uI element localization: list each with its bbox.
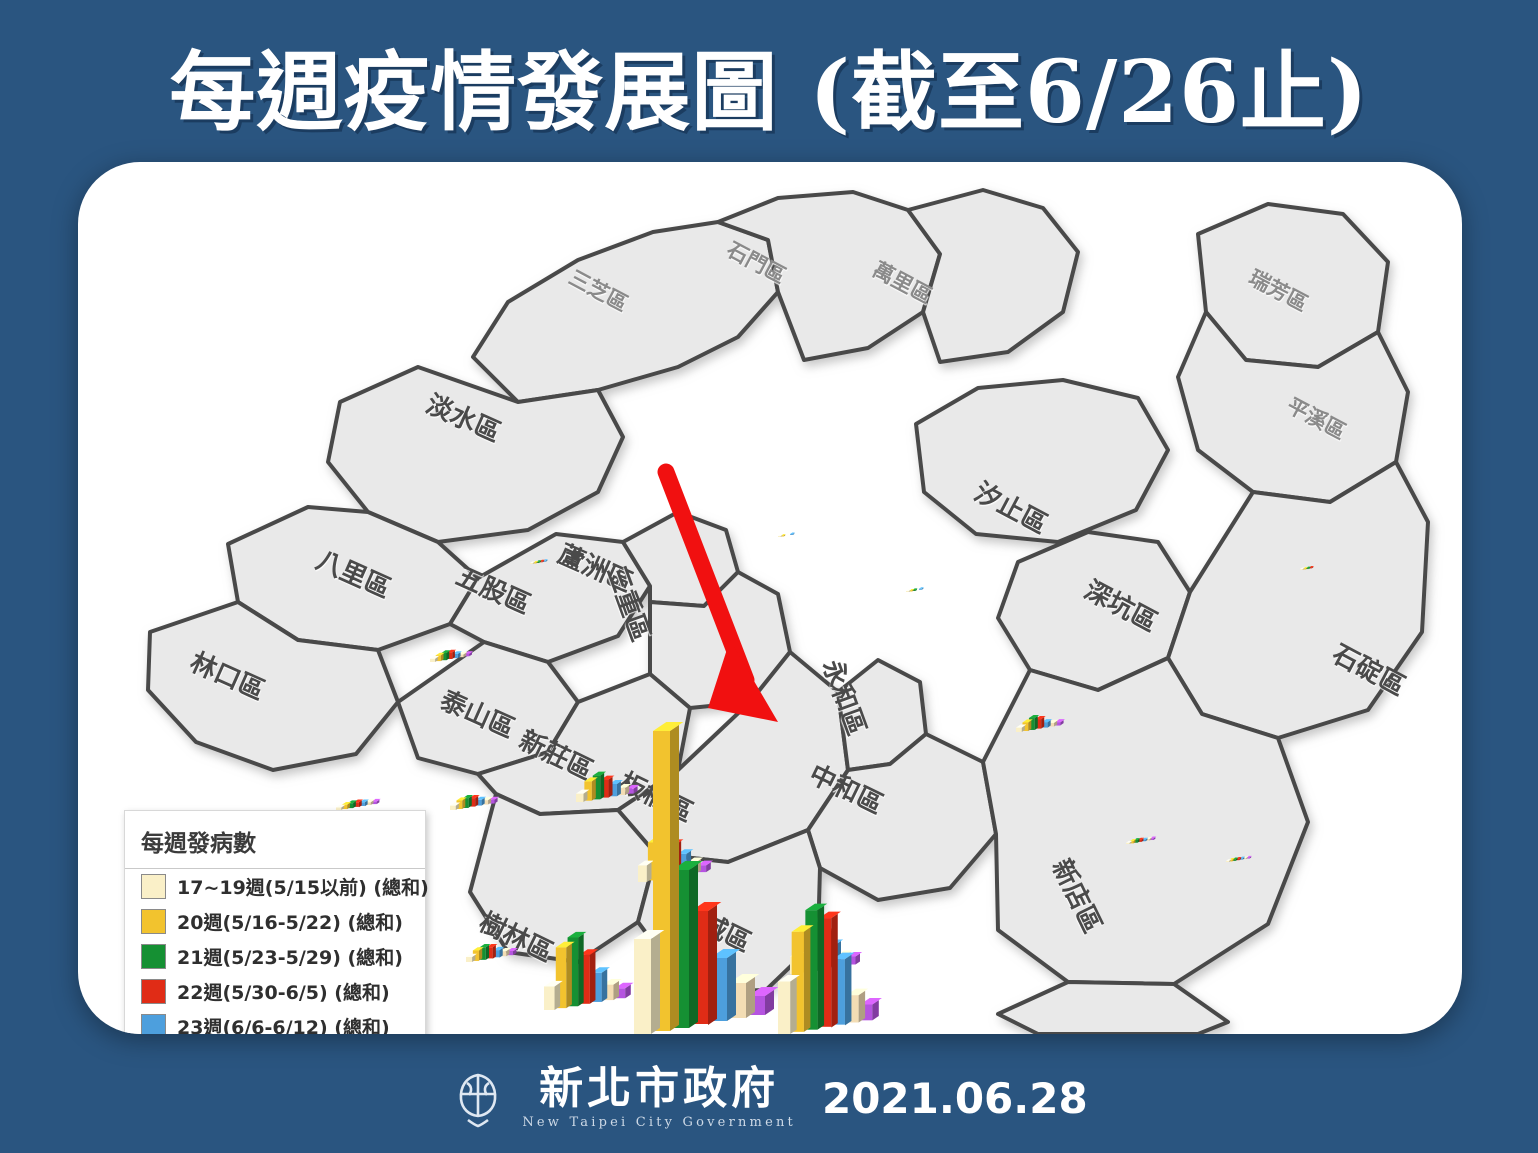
bar-side <box>602 969 608 1002</box>
bar-cluster-三芝區 <box>530 513 553 564</box>
map-card: 三芝區石門區萬里區瑞芳區淡水區八里區五股區蘆洲區林口區泰山區三重區新莊區板橋區永… <box>78 162 1462 1034</box>
bar-side <box>746 977 755 1018</box>
bar-face <box>576 794 583 802</box>
bar-cluster-深坑區 <box>1126 781 1154 844</box>
bar-side <box>486 945 489 960</box>
bar-cluster-瑞芳區 <box>1300 522 1321 570</box>
bar-side <box>831 914 837 1028</box>
bar-淡水區-w17_19 <box>430 659 435 662</box>
bar-中和區-w17_19 <box>778 982 790 1034</box>
bar-萬里區-w17_19 <box>906 591 909 592</box>
bar-石門區-w23 <box>790 534 793 535</box>
bar-cluster-淡水區 <box>430 572 470 662</box>
bar-side <box>609 777 613 798</box>
legend-item-label: 20週(5/16-5/22) (總和) <box>177 908 403 935</box>
legend-item: 22週(5/30-6/5) (總和) <box>125 974 425 1009</box>
bar-face <box>634 939 651 1034</box>
bar-cluster-新莊區 <box>544 824 626 1010</box>
bar-泰山區-w17_19 <box>466 957 472 962</box>
bar-side <box>818 906 824 1030</box>
legend-item: 17~19週(5/15以前) (總和) <box>125 869 425 904</box>
bar-新莊區-w17_19 <box>544 987 555 1010</box>
bar-side <box>590 951 596 1004</box>
gov-name-wrap: 新北市政府 New Taipei City Government <box>522 1066 796 1129</box>
legend-swatch-w21 <box>141 944 166 969</box>
bar-cluster-新店區 <box>998 968 1038 1034</box>
legend-title: 每週發病數 <box>125 811 425 869</box>
bar-side <box>708 905 717 1025</box>
bar-side <box>555 983 561 1010</box>
bar-side <box>578 934 584 1006</box>
bar-side <box>651 933 660 1034</box>
bar-cluster-石門區 <box>778 489 799 537</box>
legend-item-label: 21週(5/23-5/29) (總和) <box>177 943 403 970</box>
bar-板橋區-w17_19 <box>634 939 651 1034</box>
legend-item: 20週(5/16-5/22) (總和) <box>125 904 425 939</box>
new-taipei-city-logo-icon <box>450 1067 506 1129</box>
bar-side <box>566 944 572 1008</box>
bar-cluster-汐止區 <box>1016 630 1061 732</box>
legend-swatch-w23 <box>141 1014 166 1034</box>
bar-汐止區-w17_19 <box>1016 728 1022 732</box>
bar-side <box>1035 716 1038 730</box>
bar-石門區-w17_19 <box>778 536 781 537</box>
bar-side <box>845 954 851 1024</box>
bar-cluster-石碇區 <box>1226 808 1250 862</box>
bar-五股區-w17_19 <box>450 806 456 810</box>
legend-swatch-w20 <box>141 909 166 934</box>
legend-item-label: 23週(6/6-6/12) (總和) <box>177 1013 390 1034</box>
bar-face <box>544 987 555 1010</box>
bar-cluster-板橋區 <box>634 734 767 1034</box>
bar-cluster-中和區 <box>778 818 874 1034</box>
bar-side <box>804 927 810 1031</box>
bar-蘆洲區-w17_19 <box>576 794 583 802</box>
legend-rows: 17~19週(5/15以前) (總和)20週(5/16-5/22) (總和)21… <box>125 869 425 1034</box>
bar-side <box>689 864 698 1028</box>
map-stage: 三芝區石門區萬里區瑞芳區淡水區八里區五股區蘆洲區林口區泰山區三重區新莊區板橋區永… <box>78 162 1462 1034</box>
title-bar: 每週疫情發展圖 (截至6/26止) <box>0 24 1538 144</box>
bar-瑞芳區-w17_19 <box>1300 569 1303 570</box>
bar-cluster-泰山區 <box>466 854 514 962</box>
footer-bar: 新北市政府 New Taipei City Government 2021.06… <box>0 1048 1538 1148</box>
bar-cluster-萬里區 <box>906 541 929 592</box>
bar-cluster-八里區 <box>336 717 377 810</box>
gov-name-zh: 新北市政府 <box>539 1066 779 1112</box>
legend-item: 21週(5/23-5/29) (總和) <box>125 939 425 974</box>
legend-swatch-w22 <box>141 979 166 1004</box>
bar-side <box>600 773 604 799</box>
bar-cluster-土城區 <box>706 1030 765 1034</box>
bar-石碇區-w17_19 <box>1226 861 1229 862</box>
legend-swatch-w17_19 <box>141 874 166 899</box>
bar-深坑區-w17_19 <box>1126 843 1130 844</box>
bar-side <box>670 725 679 1031</box>
bar-cluster-五股區 <box>450 708 495 810</box>
bar-face <box>778 982 790 1034</box>
bar-side <box>493 945 496 959</box>
bar-cluster-蘆洲區 <box>576 670 635 802</box>
bar-萬里區-w23 <box>919 589 922 590</box>
legend-item: 23週(6/6-6/12) (總和) <box>125 1009 425 1034</box>
bar-side <box>727 952 736 1021</box>
bar-side <box>790 977 796 1034</box>
bar-三芝區-w17_19 <box>530 563 533 564</box>
legend-panel: 每週發病數 17~19週(5/15以前) (總和)20週(5/16-5/22) … <box>124 810 426 1034</box>
legend-item-label: 22週(5/30-6/5) (總和) <box>177 978 390 1005</box>
legend-item-label: 17~19週(5/15以前) (總和) <box>177 873 429 900</box>
footer-date: 2021.06.28 <box>822 1074 1088 1123</box>
gov-name-en: New Taipei City Government <box>522 1115 796 1130</box>
bar-side <box>592 778 596 800</box>
page-title: 每週疫情發展圖 (截至6/26止) <box>169 22 1368 147</box>
bar-side <box>859 991 865 1023</box>
